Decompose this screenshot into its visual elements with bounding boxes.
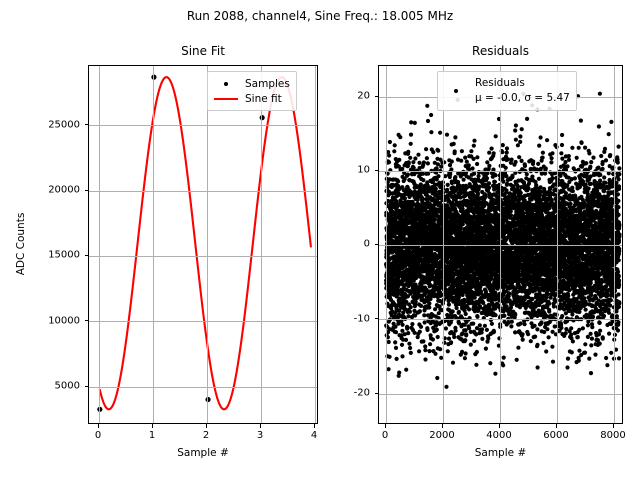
ytick-label: 20000 xyxy=(32,185,80,196)
matplotlib-figure: Run 2088, channel4, Sine Freq.: 18.005 M… xyxy=(0,0,640,480)
ytick-label: 0 xyxy=(336,239,370,250)
legend-entry-samples: Samples xyxy=(213,76,290,91)
right-xaxis-label: Sample # xyxy=(378,447,623,459)
legend-label-residuals: Residuals xyxy=(475,76,570,91)
left-xaxis-label: Sample # xyxy=(88,447,318,459)
xtick-mark xyxy=(206,424,207,428)
xtick-label: 6000 xyxy=(543,430,568,441)
scatter-dot-icon xyxy=(443,89,469,93)
gridline-y xyxy=(379,245,622,246)
xtick-label: 4000 xyxy=(486,430,511,441)
gridline-x xyxy=(153,66,154,423)
legend-entry-sine-fit: Sine fit xyxy=(213,91,290,106)
residuals-legend: Residuals μ = -0.0, σ = 5.47 xyxy=(437,71,577,111)
figure-suptitle: Run 2088, channel4, Sine Freq.: 18.005 M… xyxy=(0,9,640,23)
xtick-mark xyxy=(314,424,315,428)
residuals-plot-area: Residuals μ = -0.0, σ = 5.47 xyxy=(378,65,623,424)
legend-label-residual-stats: μ = -0.0, σ = 5.47 xyxy=(475,91,570,106)
ytick-mark xyxy=(375,244,379,245)
legend-entry-residuals: Residuals μ = -0.0, σ = 5.47 xyxy=(443,76,570,106)
left-yaxis-label: ADC Counts xyxy=(15,184,27,304)
xtick-mark xyxy=(98,424,99,428)
xtick-mark xyxy=(499,424,500,428)
gridline-x xyxy=(99,66,100,423)
sine-fit-legend: Samples Sine fit xyxy=(207,71,297,111)
ytick-mark xyxy=(375,393,379,394)
ytick-label: 5000 xyxy=(32,381,80,392)
scatter-dot-icon xyxy=(213,82,239,86)
gridline-y xyxy=(89,191,317,192)
gridline-y xyxy=(89,321,317,322)
xtick-label: 8000 xyxy=(600,430,625,441)
residual-points xyxy=(384,92,622,389)
xtick-label: 3 xyxy=(257,430,263,441)
ytick-label: 10 xyxy=(336,165,370,176)
gridline-y xyxy=(379,394,622,395)
xtick-mark xyxy=(152,424,153,428)
ytick-mark xyxy=(375,96,379,97)
ytick-mark xyxy=(85,386,89,387)
legend-label-samples: Samples xyxy=(245,78,290,90)
xtick-mark xyxy=(442,424,443,428)
gridline-y xyxy=(89,256,317,257)
gridline-y xyxy=(379,319,622,320)
xtick-label: 2000 xyxy=(429,430,454,441)
ytick-mark xyxy=(85,255,89,256)
gridline-y xyxy=(89,387,317,388)
ytick-mark xyxy=(375,170,379,171)
gridline-x xyxy=(207,66,208,423)
left-axes-title: Sine Fit xyxy=(88,44,318,58)
ytick-mark xyxy=(85,124,89,125)
ytick-label: 10000 xyxy=(32,316,80,327)
ytick-label: -20 xyxy=(336,388,370,399)
ytick-label: 15000 xyxy=(32,250,80,261)
line-swatch-icon xyxy=(213,98,239,100)
xtick-mark xyxy=(385,424,386,428)
ytick-mark xyxy=(375,318,379,319)
gridline-x xyxy=(315,66,316,423)
xtick-label: 1 xyxy=(149,430,155,441)
xtick-label: 0 xyxy=(382,430,388,441)
ytick-mark xyxy=(85,320,89,321)
xtick-mark xyxy=(556,424,557,428)
ytick-label: 25000 xyxy=(32,120,80,131)
sine-fit-plot-area: Samples Sine fit xyxy=(88,65,318,424)
gridline-x xyxy=(261,66,262,423)
xtick-mark xyxy=(613,424,614,428)
ytick-label: 20 xyxy=(336,91,370,102)
ytick-label: -10 xyxy=(336,314,370,325)
xtick-mark xyxy=(260,424,261,428)
ytick-mark xyxy=(85,190,89,191)
gridline-y xyxy=(379,171,622,172)
xtick-label: 0 xyxy=(95,430,101,441)
legend-label-sine-fit: Sine fit xyxy=(245,93,282,105)
right-axes-title: Residuals xyxy=(378,44,623,58)
sine-fit-curve-svg xyxy=(89,66,318,424)
xtick-label: 4 xyxy=(311,430,317,441)
xtick-label: 2 xyxy=(203,430,209,441)
gridline-y xyxy=(89,125,317,126)
